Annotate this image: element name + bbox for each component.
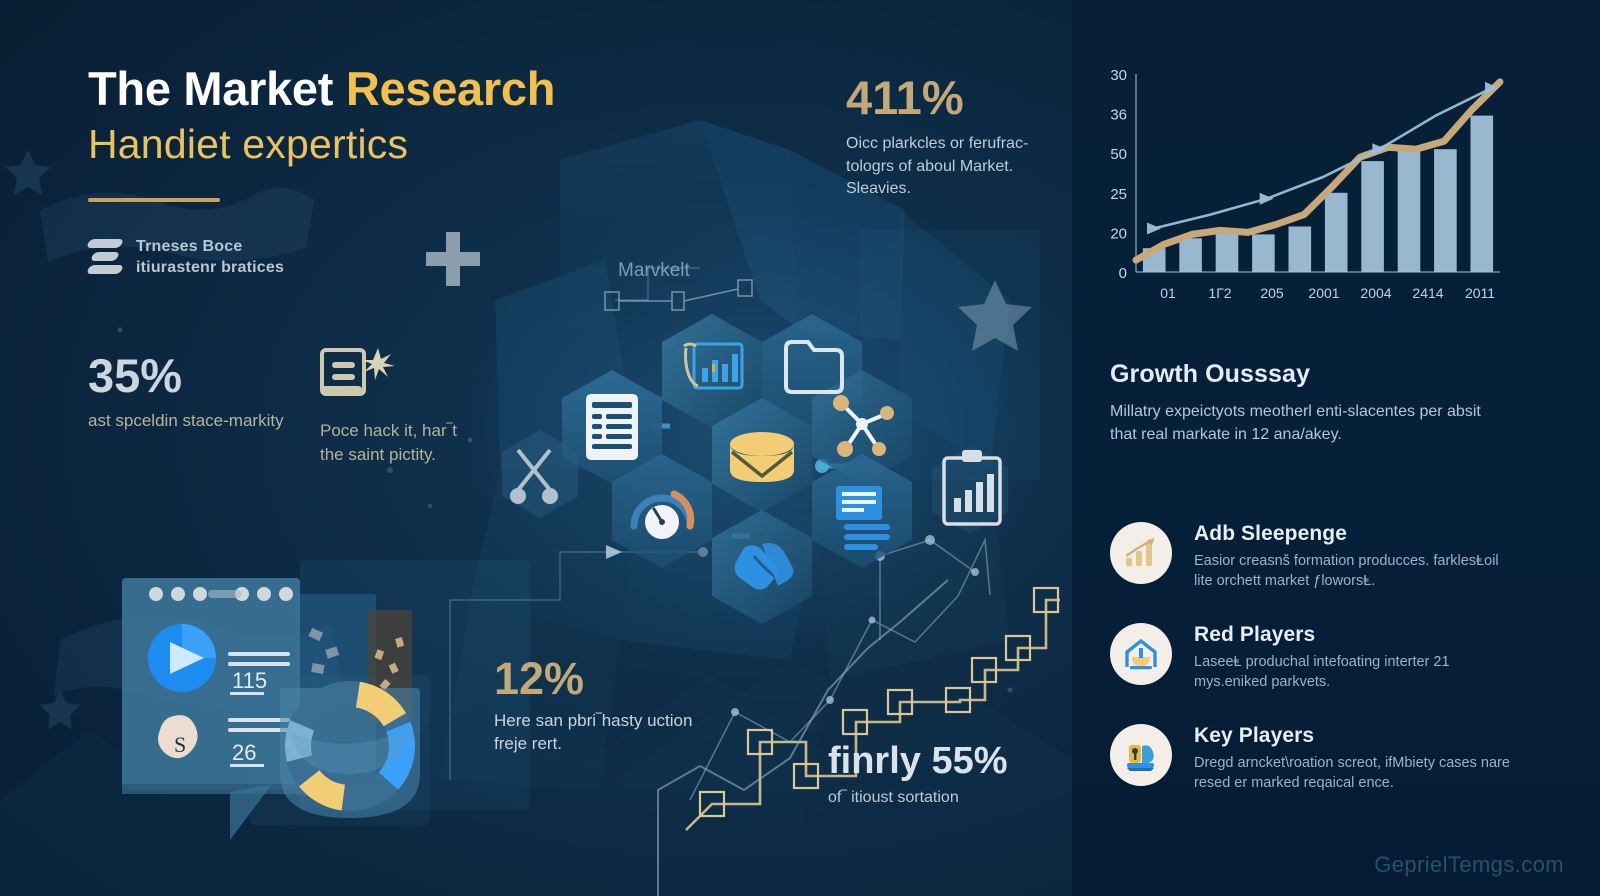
x-tick-label: 2011	[1465, 285, 1495, 301]
brand-line-2: itiurastenr bratices	[136, 259, 284, 276]
database-disk-icon	[730, 432, 794, 482]
panel-paragraph: Millatry expeictyots meotherl enti-slace…	[1110, 401, 1510, 446]
page-subtitle: Handiet expertics	[88, 119, 748, 170]
x-tick-label: 2414	[1412, 285, 1443, 301]
arrow-marker	[1147, 222, 1161, 234]
stat-12-value: 12%	[494, 656, 704, 701]
note-text: Poce hack it, har‾t the saint pictity.	[320, 419, 480, 467]
brand-line-1: Trneses Boce	[136, 238, 242, 255]
hexagon-icon-cluster: Marvkelt	[500, 250, 1020, 650]
key-badge-icon	[1110, 724, 1172, 786]
chart-bar	[1289, 227, 1312, 273]
brand-name: Trneses Boce itiurastenr bratices	[136, 236, 284, 278]
chart-bar	[1325, 193, 1348, 272]
dashboard-value-1: 115	[232, 668, 267, 693]
page-title: The Market Research Handiet expertics	[88, 64, 748, 202]
note-block: Poce hack it, har‾t the saint pictity.	[320, 346, 480, 467]
title-accent: Research	[346, 62, 555, 115]
y-tick-label: 36	[1110, 107, 1127, 124]
stat-12-description: Here san pbri‾hasty uction freje rert.	[494, 710, 704, 756]
server-rack-icon	[586, 394, 638, 460]
y-tick-label: 25	[1110, 186, 1127, 203]
feature-desc: Easior creasnš formation producces. fark…	[1194, 551, 1510, 591]
donut-chart-icon	[280, 688, 420, 818]
chart-bar	[1216, 230, 1239, 272]
y-tick-label: 0	[1119, 265, 1127, 282]
x-tick-label: 205	[1260, 285, 1284, 301]
watermark: GeprielTemgs.com	[1374, 852, 1564, 878]
growth-chart: 30365025200011Г22052001200424142011	[1096, 62, 1508, 312]
chart-bar	[1252, 234, 1275, 272]
chart-bar	[1361, 161, 1384, 272]
panel-title: Growth Ousssay	[1110, 360, 1510, 389]
title-main: The Market	[88, 62, 346, 115]
dashboard-value-2: 26	[232, 740, 256, 765]
feature-desc: Dregd arncket\roation screot, ifMbiety c…	[1194, 753, 1510, 793]
stat-35-description: ast spceldin stace-markity	[88, 410, 318, 432]
stat-411-description: Oicc plarkcles or ferufrac- tologrs of a…	[846, 133, 1076, 201]
svg-text:S: S	[174, 732, 186, 757]
plus-icon	[426, 232, 480, 286]
brand-logo[interactable]: Trneses Boce itiurastenr bratices	[88, 236, 284, 278]
y-tick-label: 20	[1110, 225, 1127, 242]
y-tick-label: 30	[1110, 67, 1127, 84]
arrow-marker	[1260, 193, 1274, 205]
document-asterisk-icon	[320, 346, 396, 402]
list-item[interactable]: Key Players Dregd arncket\roation screot…	[1110, 724, 1510, 793]
title-divider	[88, 198, 220, 202]
x-tick-label: 2001	[1308, 285, 1339, 301]
play-pie-icon	[148, 624, 216, 692]
feature-title: Adb Sleepenge	[1194, 522, 1510, 546]
x-tick-label: 01	[1160, 285, 1176, 301]
growth-chart-icon	[1110, 522, 1172, 584]
panel-heading-block: Growth Ousssay Millatry expeictyots meot…	[1110, 360, 1510, 446]
stat-55-value: finrly 55%	[828, 742, 1068, 780]
chart-bar	[1398, 147, 1421, 272]
house-balance-icon	[1110, 623, 1172, 685]
y-tick-label: 50	[1110, 146, 1127, 163]
stat-411-block: 411% Oicc plarkcles or ferufrac- tologrs…	[846, 74, 1076, 201]
stat-55-description: of‾ itioust sortation	[828, 788, 1068, 809]
feature-list: Adb Sleepenge Easior creasnš formation p…	[1110, 522, 1510, 825]
feature-title: Key Players	[1194, 724, 1510, 748]
feature-title: Red Players	[1194, 623, 1510, 647]
chart-bar	[1434, 149, 1457, 272]
stat-55-block: finrly 55% of‾ itioust sortation	[828, 742, 1068, 809]
chart-bar	[1179, 238, 1202, 272]
stacked-bars-logo-icon	[88, 236, 122, 278]
stat-12-block: 12% Here san pbri‾hasty uction freje rer…	[494, 656, 704, 756]
feature-desc: LaseeⱠ produchal intefoating interter 21…	[1194, 652, 1510, 692]
cluster-label: Marvkelt	[618, 260, 691, 281]
dashboard-mockup: 115 26 S	[100, 552, 440, 842]
x-tick-label: 1Г2	[1208, 285, 1231, 301]
infographic-canvas: The Market Research Handiet expertics Tr…	[0, 0, 1600, 896]
stat-35-block: 35% ast spceldin stace-markity	[88, 352, 318, 432]
stat-35-value: 35%	[88, 352, 318, 399]
chart-bar	[1471, 116, 1494, 272]
list-item[interactable]: Adb Sleepenge Easior creasnš formation p…	[1110, 522, 1510, 591]
list-item[interactable]: Red Players LaseeⱠ produchal intefoating…	[1110, 623, 1510, 692]
x-tick-label: 2004	[1360, 285, 1391, 301]
stat-411-value: 411%	[846, 74, 1076, 121]
